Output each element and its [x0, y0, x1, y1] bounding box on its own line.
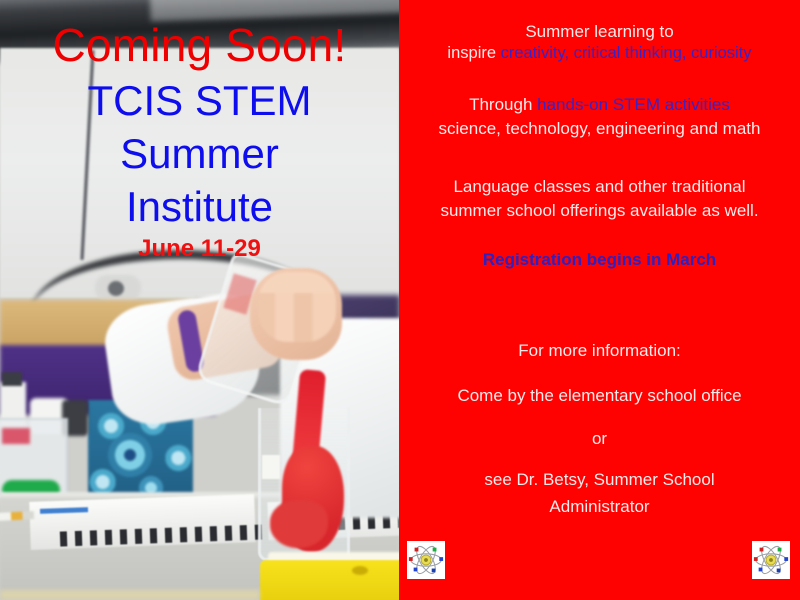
photo-tray-hole	[352, 566, 368, 575]
language-line-2: summer school offerings available as wel…	[399, 201, 800, 221]
atom-icon-left	[407, 541, 445, 579]
contact-option-2-line-2: Administrator	[399, 497, 800, 517]
photo-yellow-tray	[260, 560, 399, 600]
photo-beaker-label	[262, 455, 280, 479]
contact-separator: or	[399, 429, 800, 449]
intro-line-2-highlight: creativity, critical thinking, curiosity	[501, 44, 752, 62]
intro-line-1: Summer learning to	[399, 22, 800, 42]
photo-bottom-glow	[0, 590, 260, 600]
stem-line-1-highlight: hands-on STEM activities	[537, 95, 730, 114]
contact-option-1: Come by the elementary school office	[399, 386, 800, 406]
poster-title-line-3: Institute	[0, 186, 399, 228]
photo-bin-label	[2, 428, 30, 444]
stem-line-2: science, technology, engineering and mat…	[399, 119, 800, 139]
coming-soon-heading: Coming Soon!	[0, 22, 399, 68]
intro-line-2-prefix: inspire	[447, 44, 500, 62]
photo-fingers	[258, 272, 336, 342]
poster-title-line-2: Summer	[0, 133, 399, 175]
registration-notice: Registration begins in March	[399, 250, 800, 270]
contact-heading: For more information:	[399, 341, 800, 361]
photo-red-substance-bottom	[270, 500, 328, 548]
photo-bottle-cap	[2, 372, 22, 386]
stem-line-1: Through hands-on STEM activities	[399, 95, 800, 115]
atom-icon-right	[752, 541, 790, 579]
science-lab-photo: Coming Soon! TCIS STEM Summer Institute …	[0, 0, 399, 600]
contact-option-2-line-1: see Dr. Betsy, Summer School	[399, 470, 800, 490]
photo-camera-lens	[108, 281, 124, 296]
stem-line-1-prefix: Through	[469, 95, 537, 114]
poster-title-line-1: TCIS STEM	[0, 80, 399, 122]
poster-dates: June 11-29	[0, 237, 399, 261]
info-panel: Summer learning to inspire creativity, c…	[399, 0, 800, 600]
intro-line-2: inspire creativity, critical thinking, c…	[399, 44, 800, 63]
poster: Coming Soon! TCIS STEM Summer Institute …	[0, 0, 800, 600]
language-line-1: Language classes and other traditional	[399, 177, 800, 197]
